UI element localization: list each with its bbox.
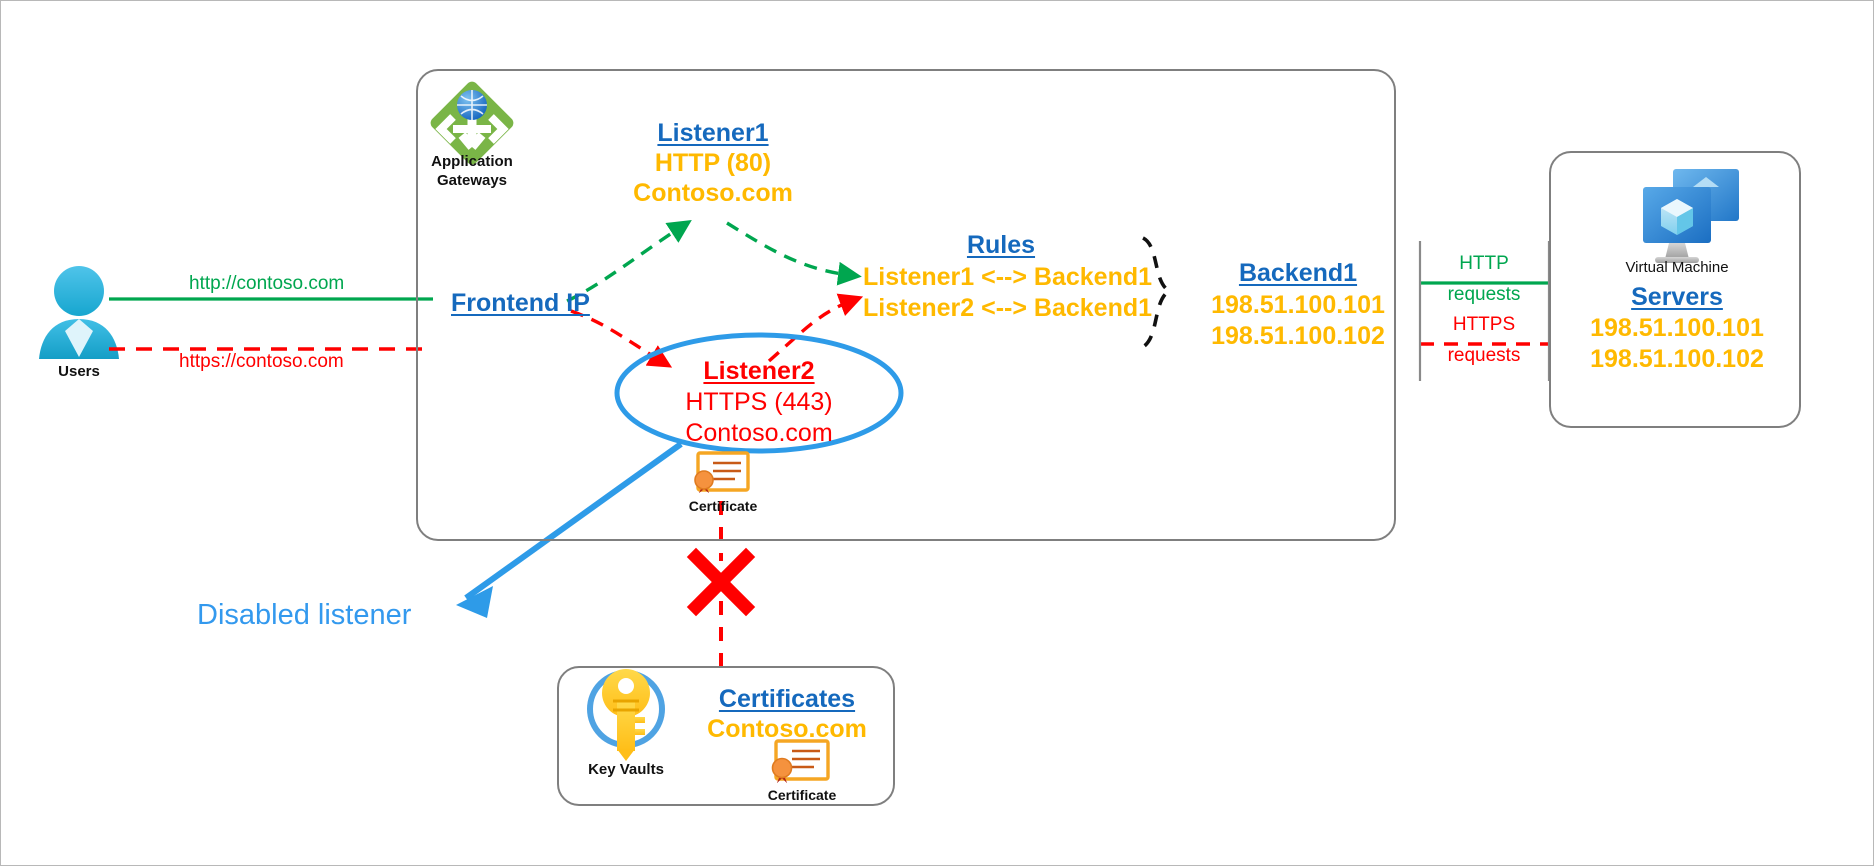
servers-address-0: 198.51.100.101 (1590, 314, 1764, 343)
disabled-listener-annotation: Disabled listener (197, 599, 411, 632)
backend-address-0: 198.51.100.101 (1211, 291, 1385, 320)
https-requests-label-line2: requests (1448, 345, 1521, 367)
certificates-hostname: Contoso.com (707, 715, 867, 744)
rules-title: Rules (967, 231, 1035, 260)
https-requests-label-line1: HTTPS (1453, 314, 1515, 336)
gateway-certificate-label: Certificate (689, 498, 757, 516)
application-gateways-label-line1: Application (431, 153, 513, 172)
application-gateways-label: Application Gateways (431, 153, 513, 191)
keyvault-certificate-label: Certificate (768, 787, 836, 805)
servers-title: Servers (1631, 283, 1723, 312)
certificates-title: Certificates (719, 685, 855, 714)
frontend-ip-label: Frontend IP (451, 289, 590, 318)
listener2-hostname: Contoso.com (685, 419, 832, 448)
key-vaults-label: Key Vaults (588, 761, 664, 780)
rules-entry-0: Listener1 <--> Backend1 (863, 263, 1152, 292)
listener2-title: Listener2 (703, 357, 814, 386)
listener1-title: Listener1 (657, 119, 768, 148)
diagram-canvas: Users http://contoso.com https://contoso… (0, 0, 1874, 866)
users-label: Users (58, 363, 100, 382)
https-link-label: https://contoso.com (179, 351, 344, 373)
virtual-machine-label: Virtual Machine (1625, 259, 1728, 278)
listener1-hostname: Contoso.com (633, 179, 793, 208)
listener1-protocol: HTTP (80) (655, 149, 771, 178)
listener2-protocol: HTTPS (443) (685, 388, 832, 417)
http-requests-label-line1: HTTP (1459, 253, 1509, 275)
backend-title: Backend1 (1239, 259, 1357, 288)
rules-entry-1: Listener2 <--> Backend1 (863, 294, 1152, 323)
http-requests-label-line2: requests (1448, 284, 1521, 306)
backend-address-1: 198.51.100.102 (1211, 322, 1385, 351)
x-mark-icon (696, 557, 746, 607)
user-icon (39, 266, 119, 359)
servers-address-1: 198.51.100.102 (1590, 345, 1764, 374)
application-gateways-label-line2: Gateways (431, 172, 513, 191)
disabled-listener-arrowhead (456, 586, 493, 618)
http-link-label: http://contoso.com (189, 273, 344, 295)
